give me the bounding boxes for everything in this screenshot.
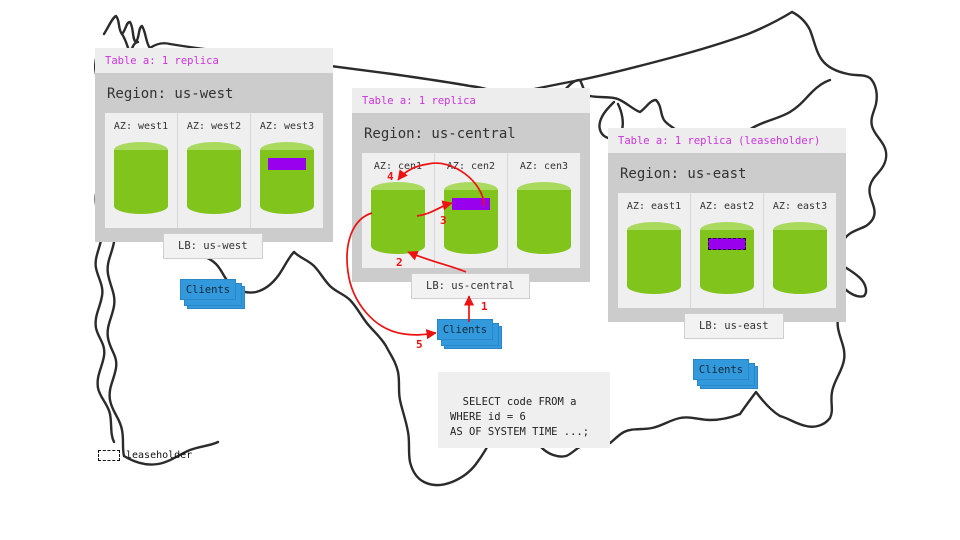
load-balancer-us-west[interactable]: LB: us-west (163, 233, 263, 259)
az-label: AZ: west2 (184, 120, 244, 133)
region-header-label: Table a: 1 replica (105, 55, 219, 67)
load-balancer-us-east[interactable]: LB: us-east (684, 313, 784, 339)
sql-query-box: SELECT code FROM a WHERE id = 6 AS OF SY… (438, 372, 610, 448)
region-header-us-central: Table a: 1 replica (352, 88, 590, 113)
region-header-label: Table a: 1 replica (leaseholder) (618, 135, 820, 147)
az-cell-cen2[interactable]: AZ: cen2 (435, 153, 508, 268)
replica-marker-cen2[interactable] (452, 198, 490, 210)
az-label: AZ: cen2 (441, 160, 501, 173)
node-cylinder-west2[interactable] (187, 142, 241, 214)
node-cylinder-east3[interactable] (773, 222, 827, 294)
region-body-us-west: Region: us-west AZ: west1 AZ: west2 (95, 73, 333, 242)
clients-us-west[interactable]: Clients (180, 279, 244, 309)
az-cell-west2[interactable]: AZ: west2 (178, 113, 251, 228)
clients-label: Clients (186, 284, 230, 296)
node-cylinder-east2[interactable] (700, 222, 754, 294)
node-cylinder-west3[interactable] (260, 142, 314, 214)
us-border-north-central (500, 12, 792, 96)
az-label: AZ: east2 (697, 200, 757, 213)
node-cylinder-west1[interactable] (114, 142, 168, 214)
lb-label: LB: us-west (178, 240, 248, 252)
region-card-us-east: Table a: 1 replica (leaseholder) Region:… (608, 128, 846, 322)
region-header-label: Table a: 1 replica (362, 95, 476, 107)
clients-label: Clients (699, 364, 743, 376)
replica-marker-west3[interactable] (268, 158, 306, 170)
region-title: Region: us-east (620, 165, 836, 183)
replica-marker-east2-leaseholder[interactable] (708, 238, 746, 250)
az-row: AZ: east1 AZ: east2 AZ: east3 (618, 193, 836, 308)
region-body-us-central: Region: us-central AZ: cen1 AZ: cen2 (352, 113, 590, 282)
az-cell-west1[interactable]: AZ: west1 (105, 113, 178, 228)
sql-query-text: SELECT code FROM a WHERE id = 6 AS OF SY… (450, 396, 589, 438)
az-row: AZ: cen1 AZ: cen2 AZ: cen3 (362, 153, 580, 268)
region-header-us-east: Table a: 1 replica (leaseholder) (608, 128, 846, 153)
lb-label: LB: us-east (699, 320, 769, 332)
leaseholder-swatch-icon (98, 450, 120, 461)
node-cylinder-cen2[interactable] (444, 182, 498, 254)
az-label: AZ: west1 (111, 120, 171, 133)
az-label: AZ: cen3 (514, 160, 574, 173)
node-cylinder-east1[interactable] (627, 222, 681, 294)
az-cell-east1[interactable]: AZ: east1 (618, 193, 691, 308)
az-cell-cen1[interactable]: AZ: cen1 (362, 153, 435, 268)
az-label: AZ: west3 (257, 120, 317, 133)
region-body-us-east: Region: us-east AZ: east1 AZ: east2 (608, 153, 846, 322)
load-balancer-us-central[interactable]: LB: us-central (411, 273, 530, 299)
region-card-us-west: Table a: 1 replica Region: us-west AZ: w… (95, 48, 333, 242)
az-cell-cen3[interactable]: AZ: cen3 (508, 153, 580, 268)
az-label: AZ: cen1 (368, 160, 428, 173)
legend-label: leaseholder (126, 450, 192, 461)
node-cylinder-cen1[interactable] (371, 182, 425, 254)
legend: leaseholder (98, 450, 192, 461)
clients-us-central[interactable]: Clients (437, 319, 501, 349)
az-cell-east2[interactable]: AZ: east2 (691, 193, 764, 308)
az-label: AZ: east1 (624, 200, 684, 213)
az-cell-west3[interactable]: AZ: west3 (251, 113, 323, 228)
clients-label: Clients (443, 324, 487, 336)
clients-us-east[interactable]: Clients (693, 359, 757, 389)
az-label: AZ: east3 (770, 200, 830, 213)
region-title: Region: us-west (107, 85, 323, 103)
region-header-us-west: Table a: 1 replica (95, 48, 333, 73)
az-row: AZ: west1 AZ: west2 AZ: west3 (105, 113, 323, 228)
node-cylinder-cen3[interactable] (517, 182, 571, 254)
az-cell-east3[interactable]: AZ: east3 (764, 193, 836, 308)
region-title: Region: us-central (364, 125, 580, 143)
lb-label: LB: us-central (426, 280, 515, 292)
region-card-us-central: Table a: 1 replica Region: us-central AZ… (352, 88, 590, 282)
